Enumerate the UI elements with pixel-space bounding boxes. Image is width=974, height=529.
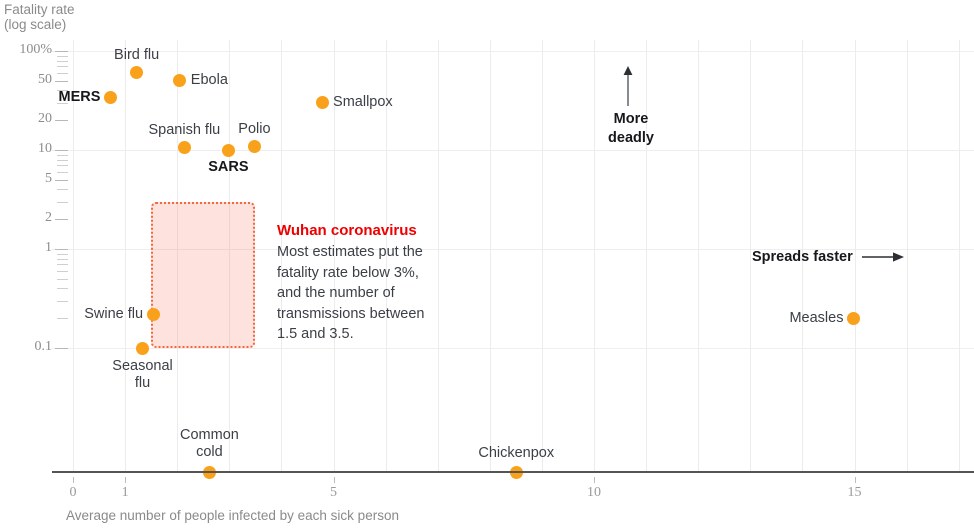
y-tick-mark-major bbox=[55, 249, 68, 250]
y-tick-mark-major bbox=[55, 180, 68, 181]
point-label-seasonal-flu: Seasonal flu bbox=[112, 358, 172, 392]
data-point-measles[interactable] bbox=[847, 312, 860, 325]
y-tick-label: 0.1 bbox=[0, 339, 52, 355]
data-point-seasonal-flu[interactable] bbox=[136, 342, 149, 355]
gridline-vertical bbox=[698, 40, 699, 471]
gridline-vertical bbox=[490, 40, 491, 471]
annotation-body: Most estimates put the fatality rate bel… bbox=[277, 242, 457, 345]
y-tick-mark bbox=[57, 318, 68, 319]
x-tick-label: 1 bbox=[105, 485, 145, 501]
point-label-smallpox: Smallpox bbox=[333, 94, 393, 111]
y-tick-mark-major bbox=[55, 120, 68, 121]
point-label-spanish-flu: Spanish flu bbox=[148, 122, 220, 139]
x-tick-mark bbox=[73, 477, 74, 483]
data-point-ebola[interactable] bbox=[173, 74, 186, 87]
gridline-vertical bbox=[125, 40, 126, 471]
x-tick-mark bbox=[334, 477, 335, 483]
y-tick-label: 50 bbox=[0, 72, 52, 88]
y-tick-label: 20 bbox=[0, 111, 52, 127]
y-tick-label: 1 bbox=[0, 240, 52, 256]
spreads-faster-arrow-icon bbox=[862, 249, 904, 270]
data-point-sars[interactable] bbox=[222, 144, 235, 157]
x-tick-label: 5 bbox=[314, 485, 354, 501]
y-tick-mark-major bbox=[55, 81, 68, 82]
x-tick-label: 0 bbox=[53, 485, 93, 501]
point-label-measles: Measles bbox=[789, 310, 843, 327]
y-tick-label: 5 bbox=[0, 171, 52, 187]
gridline-vertical bbox=[646, 40, 647, 471]
gridline-vertical bbox=[959, 40, 960, 471]
y-tick-mark bbox=[57, 56, 68, 57]
gridline-vertical bbox=[907, 40, 908, 471]
y-tick-mark-major bbox=[55, 219, 68, 220]
data-point-polio[interactable] bbox=[248, 140, 261, 153]
point-label-ebola: Ebola bbox=[191, 72, 228, 89]
point-label-sars: SARS bbox=[208, 159, 248, 176]
y-tick-label: 100% bbox=[0, 42, 52, 58]
x-tick-mark bbox=[125, 477, 126, 483]
wuhan-coronavirus-annotation: Wuhan coronavirus Most estimates put the… bbox=[277, 221, 457, 345]
y-tick-mark bbox=[57, 288, 68, 289]
x-tick-label: 15 bbox=[835, 485, 875, 501]
y-tick-label: 10 bbox=[0, 141, 52, 157]
y-tick-mark bbox=[57, 259, 68, 260]
data-point-bird-flu[interactable] bbox=[130, 66, 143, 79]
x-axis-title: Average number of people infected by eac… bbox=[66, 508, 399, 523]
y-tick-mark bbox=[57, 66, 68, 67]
point-label-polio: Polio bbox=[238, 121, 270, 138]
more-deadly-annotation: More deadly bbox=[602, 110, 660, 148]
gridline-vertical bbox=[855, 40, 856, 471]
gridline-vertical bbox=[542, 40, 543, 471]
y-tick-mark bbox=[57, 202, 68, 203]
y-tick-mark bbox=[57, 279, 68, 280]
more-deadly-arrow-icon bbox=[622, 66, 634, 111]
point-label-bird-flu: Bird flu bbox=[114, 47, 159, 64]
x-tick-mark bbox=[855, 477, 856, 483]
y-tick-mark bbox=[57, 271, 68, 272]
point-label-mers: MERS bbox=[59, 89, 101, 106]
y-tick-mark bbox=[57, 264, 68, 265]
x-axis-line bbox=[52, 471, 974, 473]
y-tick-mark-major bbox=[55, 348, 68, 349]
point-label-chickenpox: Chickenpox bbox=[478, 445, 554, 462]
spreads-faster-annotation: Spreads faster bbox=[752, 249, 853, 265]
y-tick-mark bbox=[57, 73, 68, 74]
y-tick-mark bbox=[57, 301, 68, 302]
y-tick-mark bbox=[57, 61, 68, 62]
y-tick-mark-major bbox=[55, 150, 68, 151]
x-tick-label: 10 bbox=[574, 485, 614, 501]
gridline-horizontal bbox=[52, 51, 974, 52]
data-point-smallpox[interactable] bbox=[316, 96, 329, 109]
point-label-swine-flu: Swine flu bbox=[84, 306, 143, 323]
y-tick-mark bbox=[57, 172, 68, 173]
data-point-swine-flu[interactable] bbox=[147, 308, 160, 321]
y-tick-mark bbox=[57, 160, 68, 161]
point-label-common-cold: Common cold bbox=[180, 427, 239, 461]
y-tick-mark-major bbox=[55, 51, 68, 52]
annotation-title: Wuhan coronavirus bbox=[277, 221, 457, 241]
y-tick-mark bbox=[57, 165, 68, 166]
y-tick-mark bbox=[57, 254, 68, 255]
x-tick-mark bbox=[594, 477, 595, 483]
gridline-horizontal bbox=[52, 348, 974, 349]
gridline-vertical bbox=[594, 40, 595, 471]
y-tick-mark bbox=[57, 189, 68, 190]
wuhan-highlight-region bbox=[151, 202, 255, 348]
y-tick-mark bbox=[57, 155, 68, 156]
y-axis-title: Fatality rate (log scale) bbox=[4, 2, 75, 32]
data-point-spanish-flu[interactable] bbox=[178, 141, 191, 154]
data-point-mers[interactable] bbox=[104, 91, 117, 104]
y-tick-label: 2 bbox=[0, 210, 52, 226]
